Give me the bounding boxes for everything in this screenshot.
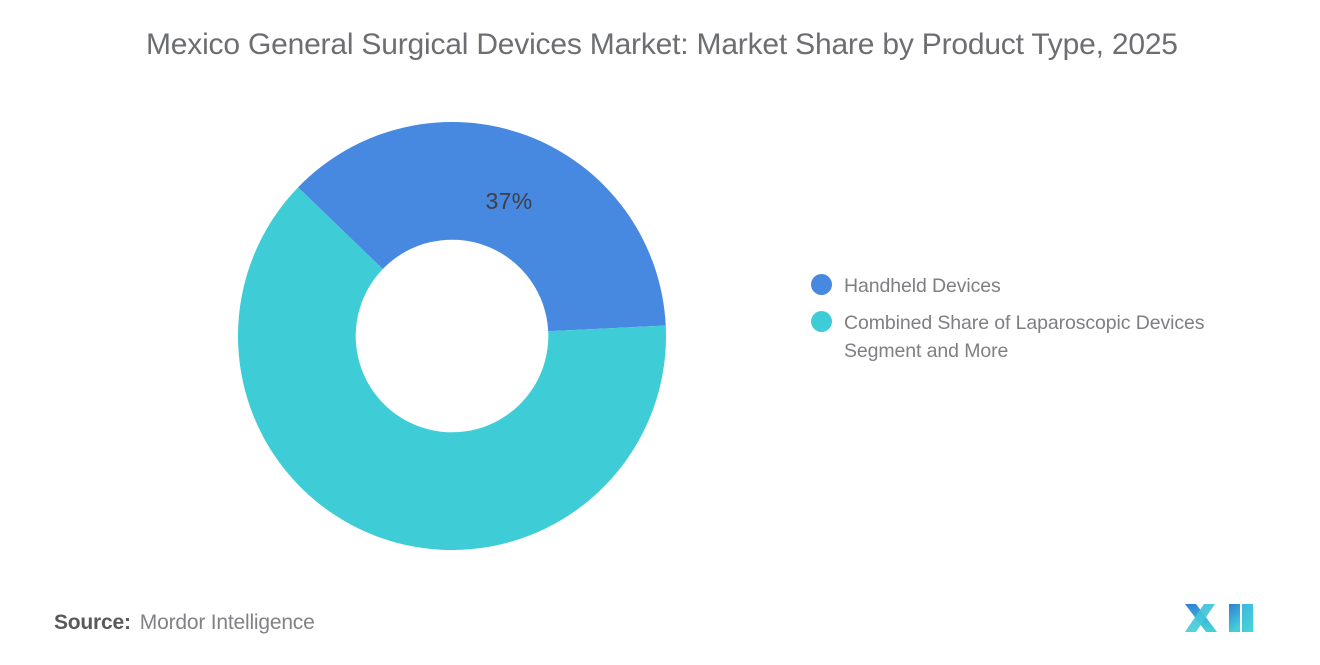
source-value: Mordor Intelligence	[140, 611, 315, 635]
donut-slice-value-label: 37%	[451, 188, 567, 215]
source-line: Source: Mordor Intelligence	[54, 611, 315, 635]
source-label: Source:	[54, 611, 131, 635]
legend-item-combined-share[interactable]: Combined Share of Laparoscopic Devices S…	[811, 309, 1281, 365]
donut-chart	[238, 122, 666, 550]
chart-page: Mexico General Surgical Devices Market: …	[0, 0, 1320, 665]
legend-swatch-icon	[811, 311, 832, 332]
legend-item-label: Handheld Devices	[844, 272, 1001, 300]
legend-item-handheld-devices[interactable]: Handheld Devices	[811, 272, 1281, 300]
chart-legend: Handheld Devices Combined Share of Lapar…	[811, 272, 1281, 374]
page-title: Mexico General Surgical Devices Market: …	[146, 28, 1266, 62]
legend-swatch-icon	[811, 274, 832, 295]
legend-item-label: Combined Share of Laparoscopic Devices S…	[844, 309, 1264, 365]
mordor-intelligence-logo-icon	[1183, 599, 1255, 637]
